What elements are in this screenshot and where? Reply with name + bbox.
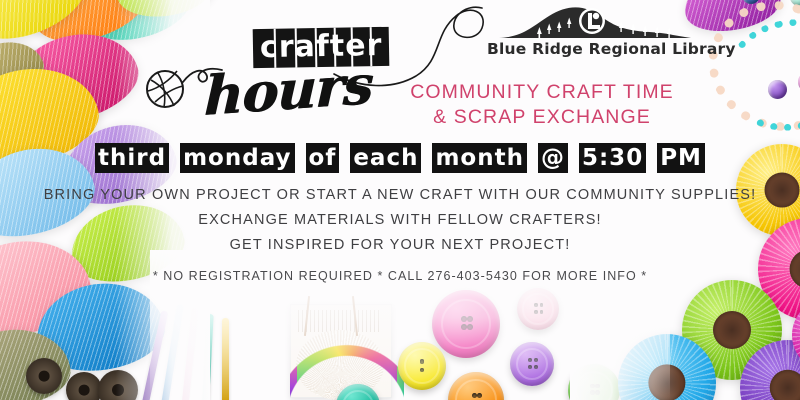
footnote: * NO REGISTRATION REQUIRED * CALL 276-40… [0,264,800,289]
date-block-3: each [350,143,421,173]
date-block-0: third [95,143,169,173]
subtitle: COMMUNITY CRAFT TIME & SCRAP EXCHANGE [392,80,692,130]
subtitle-line-2: & SCRAP EXCHANGE [392,105,692,130]
subtitle-line-1: COMMUNITY CRAFT TIME [392,80,692,105]
craft-event-flyer: Blue Ridge Regional Library crafter hour… [0,0,800,400]
mountain-with-trees-logo-icon [497,4,693,42]
date-block-2: of [306,143,340,173]
date-block-6: 5:30 [579,143,646,173]
body-copy: BRING YOUR OWN PROJECT OR START A NEW CR… [0,183,800,289]
date-time-line: thirdmondayofeachmonth@5:30PM [0,143,800,173]
date-block-4: month [432,143,527,173]
library-logo: Blue Ridge Regional Library [487,4,702,66]
hours-script-title: hours [203,52,373,128]
library-name: Blue Ridge Regional Library [487,40,702,58]
body-line-1: BRING YOUR OWN PROJECT OR START A NEW CR… [0,183,800,208]
date-block-1: monday [180,143,294,173]
body-line-2: EXCHANGE MATERIALS WITH FELLOW CRAFTERS! [0,208,800,233]
date-block-7: PM [657,143,705,173]
body-line-3: GET INSPIRED FOR YOUR NEXT PROJECT! [0,233,800,258]
date-block-5: @ [538,143,568,173]
